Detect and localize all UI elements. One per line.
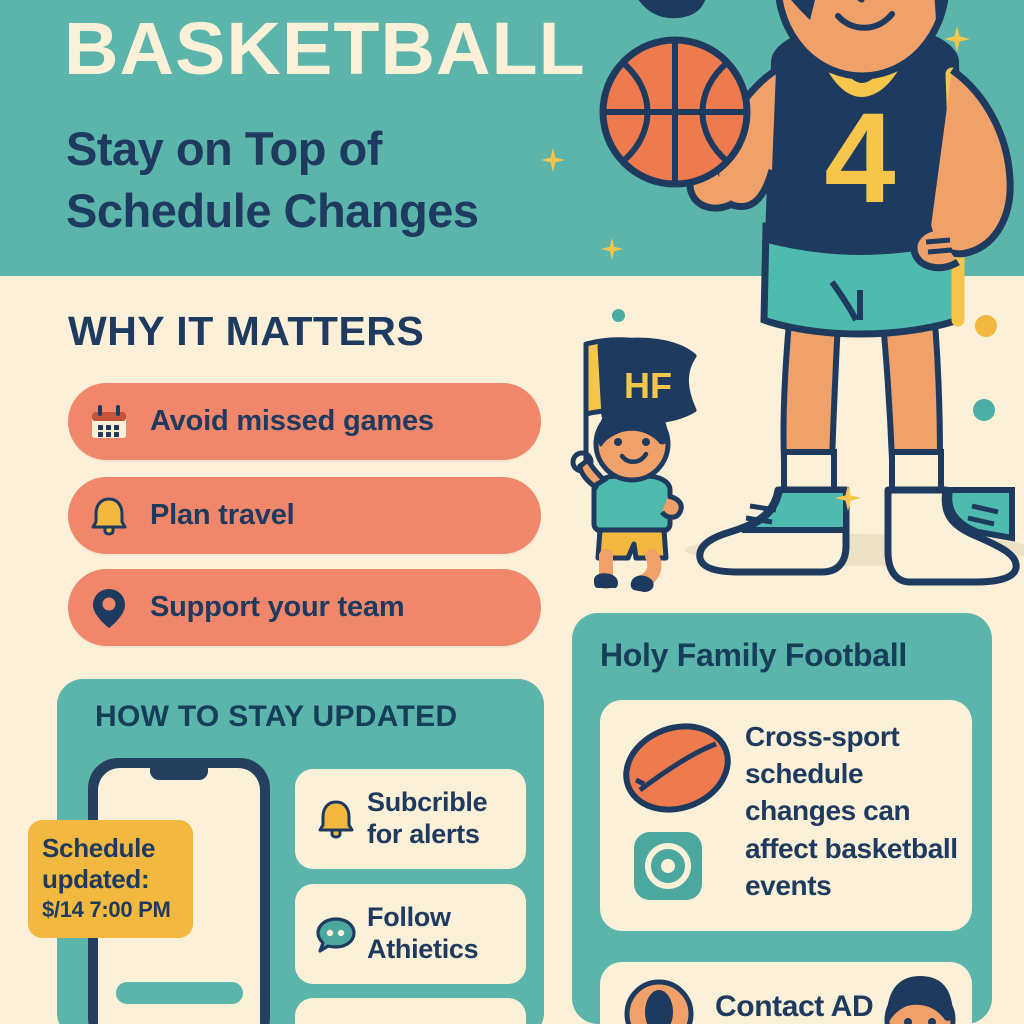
toast-title: Schedule updated: bbox=[42, 833, 179, 894]
chat-bubble-icon bbox=[305, 911, 367, 957]
target-icon bbox=[632, 830, 704, 902]
bell-icon bbox=[305, 796, 367, 842]
page-subtitle-line-1: Stay on Top of bbox=[66, 118, 586, 180]
contact-ad-label: Contact AD bbox=[715, 990, 873, 1024]
bell-icon bbox=[68, 493, 150, 539]
location-pin-icon bbox=[68, 585, 150, 631]
contact-ad-card[interactable]: Contact AD bbox=[600, 962, 972, 1024]
svg-text:4: 4 bbox=[824, 87, 895, 230]
holy-family-football-heading: Holy Family Football bbox=[600, 637, 907, 674]
how-card-check[interactable]: Check bbox=[295, 998, 526, 1024]
toast-time: $/14 7:00 PM bbox=[42, 897, 179, 923]
why-item-support-your-team[interactable]: Support your team bbox=[68, 569, 541, 646]
page-title: BASKETBALL bbox=[64, 12, 635, 86]
decorative-dot bbox=[975, 315, 997, 337]
how-to-stay-updated-heading: HOW TO STAY UPDATED bbox=[95, 700, 457, 734]
infographic-canvas: 4 bbox=[0, 0, 1024, 1024]
how-card-follow-athletics[interactable]: Follow Athietics bbox=[295, 884, 526, 984]
why-item-plan-travel[interactable]: Plan travel bbox=[68, 477, 541, 554]
person-avatar-icon bbox=[624, 976, 694, 1024]
football-icon bbox=[620, 718, 735, 818]
why-item-label: Plan travel bbox=[150, 499, 295, 532]
person-face-icon bbox=[875, 972, 965, 1024]
page-subtitle: Stay on Top of Schedule Changes bbox=[66, 118, 586, 242]
cross-sport-card-text: Cross-sport schedule changes can affect … bbox=[745, 718, 970, 904]
why-item-avoid-missed-games[interactable]: Avoid missed games bbox=[68, 383, 541, 460]
why-it-matters-heading: WHY IT MATTERS bbox=[68, 308, 424, 355]
phone-content-bar bbox=[116, 982, 243, 1004]
decorative-dot bbox=[973, 399, 995, 421]
how-card-subscribe-for-alerts[interactable]: Subcrible for alerts bbox=[295, 769, 526, 869]
why-item-label: Avoid missed games bbox=[150, 405, 434, 438]
phone-notch bbox=[150, 768, 208, 780]
decorative-dot bbox=[612, 309, 625, 322]
why-item-label: Support your team bbox=[150, 591, 404, 624]
cross-sport-card[interactable]: Cross-sport schedule changes can affect … bbox=[600, 700, 972, 931]
how-card-label: Subcrible for alerts bbox=[367, 787, 516, 851]
how-card-label: Follow Athietics bbox=[367, 902, 516, 966]
flag-label: HF bbox=[624, 365, 672, 406]
calendar-icon bbox=[68, 399, 150, 445]
mascot-with-flag-illustration: HF bbox=[560, 330, 840, 600]
schedule-updated-toast: Schedule updated: $/14 7:00 PM bbox=[28, 820, 193, 938]
page-subtitle-line-2: Schedule Changes bbox=[66, 180, 586, 242]
